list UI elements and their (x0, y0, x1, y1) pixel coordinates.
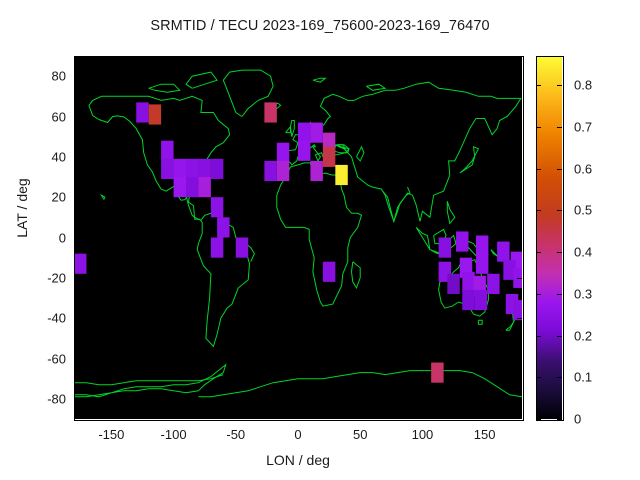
y-tick-mark-right (517, 399, 522, 400)
colorbar-tick-label: 0.4 (574, 245, 592, 260)
x-tick-label: -100 (161, 427, 187, 442)
y-tick-mark-right (517, 157, 522, 158)
x-tick-mark (298, 414, 299, 419)
coastline-path (149, 84, 180, 92)
y-tick-label: -20 (12, 270, 66, 285)
x-tick-mark (422, 414, 423, 419)
coastline-path (460, 147, 479, 173)
colorbar-tick-mark-right (557, 377, 562, 378)
y-tick-mark-right (517, 197, 522, 198)
colorbar-tick-mark (536, 210, 541, 211)
x-tick-mark-top (422, 56, 423, 61)
y-tick-label: 80 (12, 69, 66, 84)
colorbar-tick-mark-right (557, 85, 562, 86)
colorbar-tick-mark (536, 419, 541, 420)
coastline-path (101, 195, 105, 199)
x-tick-mark (360, 414, 361, 419)
y-tick-label: 60 (12, 109, 66, 124)
coastline-path (434, 229, 447, 243)
colorbar-tick-mark (536, 336, 541, 337)
colorbar-tick-mark-right (557, 252, 562, 253)
colorbar[interactable] (536, 56, 562, 419)
y-tick-mark-right (517, 278, 522, 279)
coastline-path (447, 236, 456, 248)
colorbar-tick-label: 0.8 (574, 78, 592, 93)
y-tick-mark-right (517, 238, 522, 239)
x-tick-label: 0 (294, 427, 301, 442)
coastline-path (352, 262, 361, 288)
y-tick-label: -80 (12, 391, 66, 406)
y-tick-mark (74, 76, 79, 77)
colorbar-tick-mark (536, 127, 541, 128)
coastline-path (223, 70, 273, 116)
x-tick-label: 150 (474, 427, 496, 442)
coastline-map (74, 56, 522, 419)
colorbar-tick-label: 0 (574, 412, 581, 427)
coastline-path (491, 250, 500, 258)
colorbar-tick-mark-right (557, 169, 562, 170)
colorbar-tick-mark-right (557, 419, 562, 420)
y-tick-mark (74, 278, 79, 279)
colorbar-tick-mark-right (557, 127, 562, 128)
coastline-path (298, 371, 522, 397)
x-tick-mark-top (174, 56, 175, 61)
coastline-path (186, 72, 217, 88)
x-tick-label: 50 (353, 427, 367, 442)
x-tick-mark (485, 414, 486, 419)
colorbar-tick-label: 0.2 (574, 328, 592, 343)
x-tick-mark-top (485, 56, 486, 61)
coastline-path (286, 127, 291, 133)
coastline-path (416, 227, 441, 253)
colorbar-tick-label: 0.1 (574, 370, 592, 385)
coastline-path (313, 78, 326, 82)
y-tick-mark-right (517, 359, 522, 360)
y-tick-mark (74, 117, 79, 118)
y-tick-mark-right (517, 318, 522, 319)
colorbar-tick-mark (536, 85, 541, 86)
y-tick-mark (74, 318, 79, 319)
colorbar-tick-label: 0.5 (574, 203, 592, 218)
colorbar-tick-label: 0.7 (574, 119, 592, 134)
x-tick-mark (174, 414, 175, 419)
y-tick-label: -60 (12, 351, 66, 366)
x-tick-label: -50 (226, 427, 245, 442)
coastline-path (357, 147, 365, 161)
y-tick-label: -40 (12, 311, 66, 326)
x-tick-mark (236, 414, 237, 419)
y-tick-mark-right (517, 117, 522, 118)
colorbar-tick-mark (536, 252, 541, 253)
coastline-path (286, 82, 521, 221)
coastline-path (198, 379, 298, 397)
x-tick-label: 100 (412, 427, 434, 442)
coastline-path (518, 272, 522, 274)
y-tick-mark (74, 359, 79, 360)
coastline-path (268, 103, 281, 109)
colorbar-gradient (536, 56, 562, 419)
y-axis-label: LAT / deg (14, 148, 30, 268)
x-axis-label: LON / deg (74, 452, 522, 468)
x-tick-mark-top (298, 56, 299, 61)
colorbar-tick-label: 0.6 (574, 161, 592, 176)
coastline-path (506, 320, 515, 330)
coastline-path (478, 320, 482, 324)
colorbar-tick-mark-right (557, 336, 562, 337)
coastline-path (366, 84, 385, 90)
coastline-path (74, 375, 223, 385)
coastline-path (291, 121, 295, 137)
x-tick-mark-top (236, 56, 237, 61)
colorbar-tick-mark (536, 294, 541, 295)
colorbar-tick-mark-right (557, 210, 562, 211)
coastline-path (439, 260, 489, 316)
y-tick-mark (74, 399, 79, 400)
coastline-path (383, 187, 410, 221)
chart-title: SRMTID / TECU 2023-169_75600-2023-169_76… (0, 18, 640, 34)
x-tick-mark (111, 414, 112, 419)
colorbar-tick-mark (536, 169, 541, 170)
coastline-path (243, 242, 254, 262)
coastline-path (89, 96, 250, 346)
y-tick-mark (74, 238, 79, 239)
y-tick-mark-right (517, 76, 522, 77)
y-tick-mark (74, 157, 79, 158)
coastline-path (277, 163, 362, 306)
colorbar-tick-mark-right (557, 294, 562, 295)
x-tick-mark-top (360, 56, 361, 61)
map-plot-area[interactable] (74, 56, 522, 419)
colorbar-tick-label: 0.3 (574, 286, 592, 301)
colorbar-tick-mark (536, 377, 541, 378)
x-tick-label: -150 (98, 427, 124, 442)
coastline-path (461, 240, 485, 258)
y-tick-mark (74, 197, 79, 198)
x-tick-mark-top (111, 56, 112, 61)
coastline-path (447, 201, 455, 223)
chart-figure: SRMTID / TECU 2023-169_75600-2023-169_76… (0, 0, 640, 480)
